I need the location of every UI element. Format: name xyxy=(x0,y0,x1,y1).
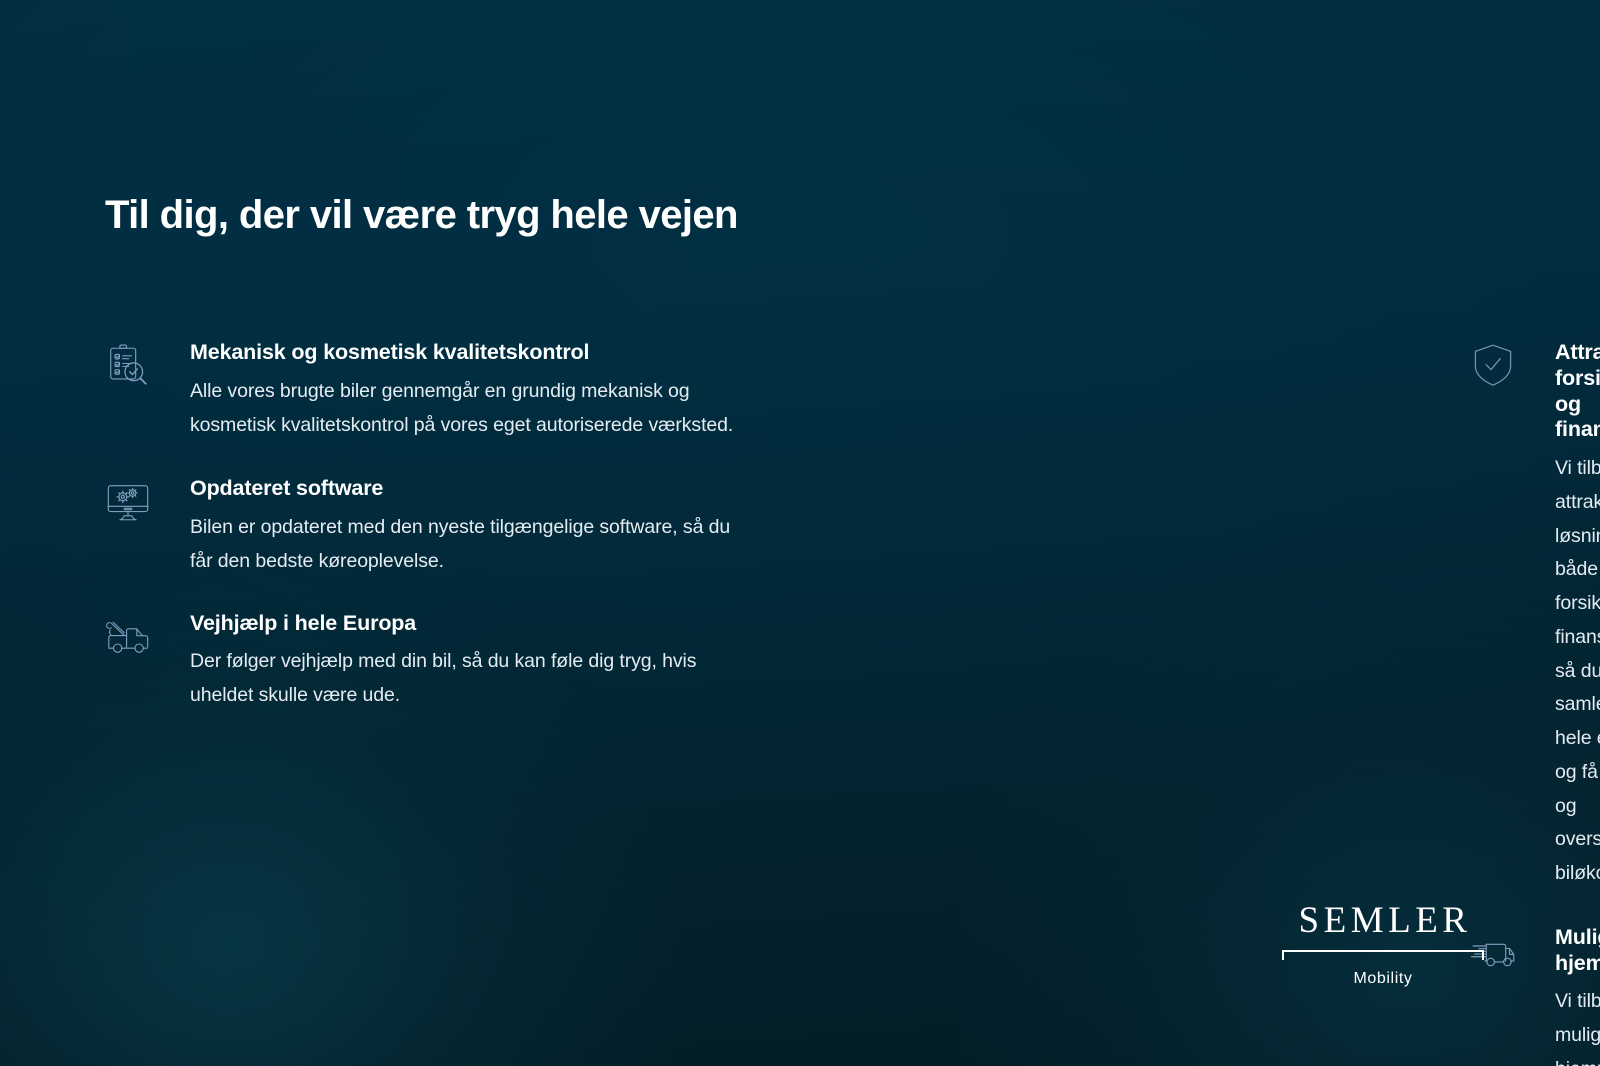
feature-text: Attraktiv forsikring og finansiering Vi … xyxy=(1555,340,1600,891)
features-column-left: Mekanisk og kosmetisk kvalitetskontrol A… xyxy=(0,340,760,1066)
logo-wordmark: SEMLER xyxy=(1278,902,1488,939)
feature-title: Attraktiv forsikring og finansiering xyxy=(1555,340,1600,443)
monitor-gears-icon xyxy=(100,476,156,528)
logo-divider-rule xyxy=(1278,950,1488,961)
page-title: Til dig, der vil være tryg hele vejen xyxy=(105,193,738,238)
feature-description: Vi tilbyder attraktive løsninger på både… xyxy=(1555,452,1600,891)
feature-description: Vi tilbyder mulighed for hjemmelevering,… xyxy=(1555,985,1600,1066)
shield-check-icon xyxy=(1465,340,1521,392)
semler-mobility-logo: SEMLER Mobility xyxy=(1278,902,1488,988)
feature-text: Mulighed for hjemmelevering Vi tilbyder … xyxy=(1555,925,1600,1066)
tow-truck-icon xyxy=(100,611,156,663)
logo-rule-bar xyxy=(1282,950,1484,952)
logo-subtitle: Mobility xyxy=(1278,970,1488,988)
feature-title: Mulighed for hjemmelevering xyxy=(1555,925,1600,977)
logo-rule-tick-right xyxy=(1482,950,1484,960)
clipboard-checklist-magnifier-icon xyxy=(100,340,156,392)
promo-slide: Til dig, der vil være tryg hele vejen xyxy=(0,0,1600,1066)
